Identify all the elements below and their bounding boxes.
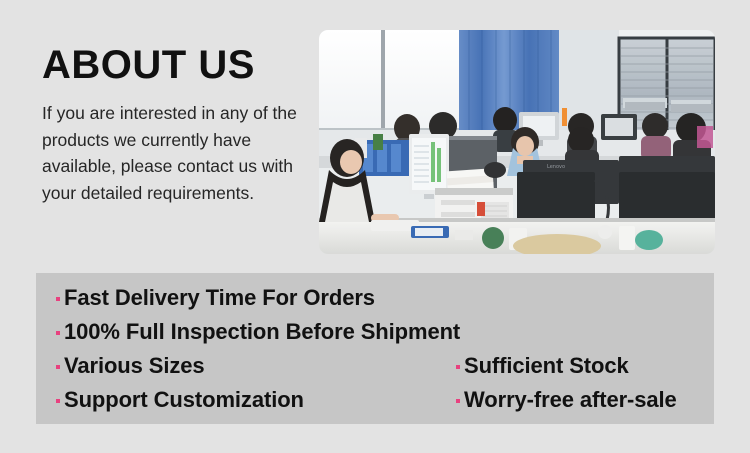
bullet-dot-icon (56, 399, 60, 403)
office-photo-illustration: Lenovo Lenovo (319, 30, 715, 254)
features-panel: Fast Delivery Time For Orders 100% Full … (36, 273, 714, 424)
feature-label: Sufficient Stock (464, 349, 629, 383)
feature-label: Worry-free after-sale (464, 383, 677, 417)
bullet-dot-icon (56, 365, 60, 369)
feature-row: Various Sizes Sufficient Stock (56, 349, 696, 383)
feature-row: Fast Delivery Time For Orders (56, 281, 696, 315)
feature-label: Support Customization (64, 383, 304, 417)
list-item: Worry-free after-sale (456, 383, 696, 417)
feature-label: 100% Full Inspection Before Shipment (64, 315, 460, 349)
bullet-dot-icon (56, 297, 60, 301)
office-photo: Lenovo Lenovo (319, 30, 715, 254)
feature-label: Various Sizes (64, 349, 205, 383)
feature-cell-left: Support Customization (56, 383, 456, 417)
feature-row: 100% Full Inspection Before Shipment (56, 315, 696, 349)
list-item: Sufficient Stock (456, 349, 696, 383)
feature-cell-left: 100% Full Inspection Before Shipment (56, 315, 456, 349)
about-section: ABOUT US If you are interested in any of… (42, 44, 310, 206)
list-item: Fast Delivery Time For Orders (56, 281, 456, 315)
list-item: Support Customization (56, 383, 456, 417)
list-item: 100% Full Inspection Before Shipment (56, 315, 456, 349)
bullet-dot-icon (456, 365, 460, 369)
bullet-dot-icon (456, 399, 460, 403)
about-description: If you are interested in any of the prod… (42, 100, 310, 206)
feature-row: Support Customization Worry-free after-s… (56, 383, 696, 417)
bullet-dot-icon (56, 331, 60, 335)
list-item: Various Sizes (56, 349, 456, 383)
page-title: ABOUT US (42, 44, 310, 86)
feature-cell-left: Fast Delivery Time For Orders (56, 281, 456, 315)
feature-label: Fast Delivery Time For Orders (64, 281, 375, 315)
feature-cell-right: Sufficient Stock (456, 349, 696, 383)
feature-cell-left: Various Sizes (56, 349, 456, 383)
features-grid: Fast Delivery Time For Orders 100% Full … (56, 281, 696, 417)
feature-cell-right: Worry-free after-sale (456, 383, 696, 417)
